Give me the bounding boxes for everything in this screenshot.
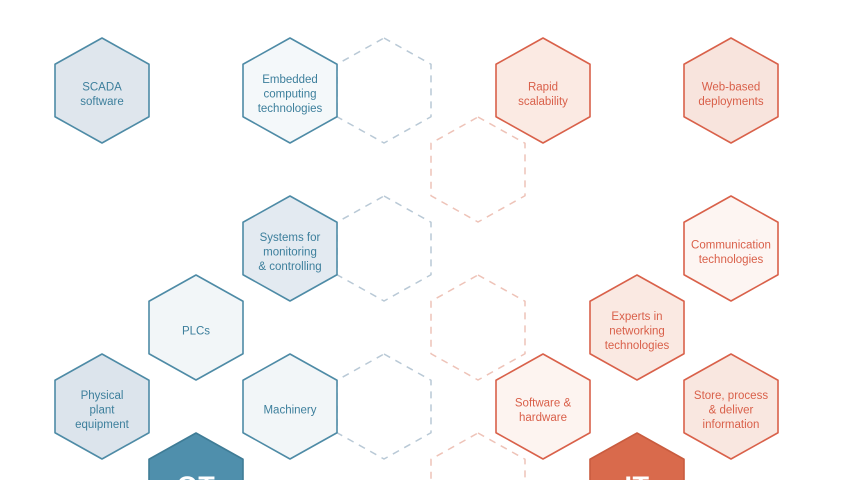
blue-dashed-column-hex-1-shape [337, 196, 431, 301]
ot-hex-plcs-label: PLCs [182, 326, 210, 338]
ot-core-hex[interactable]: OT [149, 433, 243, 480]
it-hex-store-process-and-deliver-information[interactable]: Store, process& deliverinformation [684, 354, 778, 459]
ot-hex-physical-plant-equipment[interactable]: Physicalplantequipment [55, 354, 149, 459]
ot-hex-systems-for-monitoring-and-controlling-label: Systems formonitoring& controlling [258, 232, 321, 273]
it-hex-rapid-scalability[interactable]: Rapidscalability [496, 38, 590, 143]
blue-dashed-column-hex-2-shape [337, 354, 431, 459]
ot-cluster-layer: SCADAsoftwareEmbeddedcomputingtechnologi… [55, 38, 337, 480]
it-hex-web-based-deployments[interactable]: Web-baseddeployments [684, 38, 778, 143]
red-dashed-column-hex-0 [431, 117, 525, 222]
blue-dashed-column-hex-1 [337, 196, 431, 301]
ot-hex-systems-for-monitoring-and-controlling[interactable]: Systems formonitoring& controlling [243, 196, 337, 301]
red-dashed-column-hex-0-shape [431, 117, 525, 222]
ot-hex-machinery-label: Machinery [263, 405, 316, 417]
blue-dashed-column-hex-0 [337, 38, 431, 143]
it-hex-communication-technologies[interactable]: Communicationtechnologies [684, 196, 778, 301]
red-dashed-column-hex-1-shape [431, 275, 525, 380]
it-hex-software-and-hardware[interactable]: Software &hardware [496, 354, 590, 459]
blue-dashed-column-hex-2 [337, 354, 431, 459]
it-hex-experts-in-networking-technologies[interactable]: Experts innetworkingtechnologies [590, 275, 684, 380]
it-core-hex[interactable]: IT [590, 433, 684, 480]
it-core-hex-label: IT [625, 471, 650, 480]
ot-hex-embedded-computing-technologies[interactable]: Embeddedcomputingtechnologies [243, 38, 337, 143]
hexagon-map: SCADAsoftwareEmbeddedcomputingtechnologi… [0, 0, 845, 480]
ot-hex-embedded-computing-technologies-label: Embeddedcomputingtechnologies [258, 74, 323, 115]
ot-hex-plcs[interactable]: PLCs [149, 275, 243, 380]
it-hex-experts-in-networking-technologies-label: Experts innetworkingtechnologies [605, 311, 670, 352]
red-dashed-column-hex-1 [431, 275, 525, 380]
diagram-canvas: SCADAsoftwareEmbeddedcomputingtechnologi… [0, 0, 845, 480]
it-cluster-layer: RapidscalabilityWeb-baseddeploymentsExpe… [496, 38, 778, 480]
blue-dashed-column-hex-0-shape [337, 38, 431, 143]
ot-hex-scada-software[interactable]: SCADAsoftware [55, 38, 149, 143]
ot-hex-machinery[interactable]: Machinery [243, 354, 337, 459]
ot-core-hex-label: OT [177, 471, 216, 480]
